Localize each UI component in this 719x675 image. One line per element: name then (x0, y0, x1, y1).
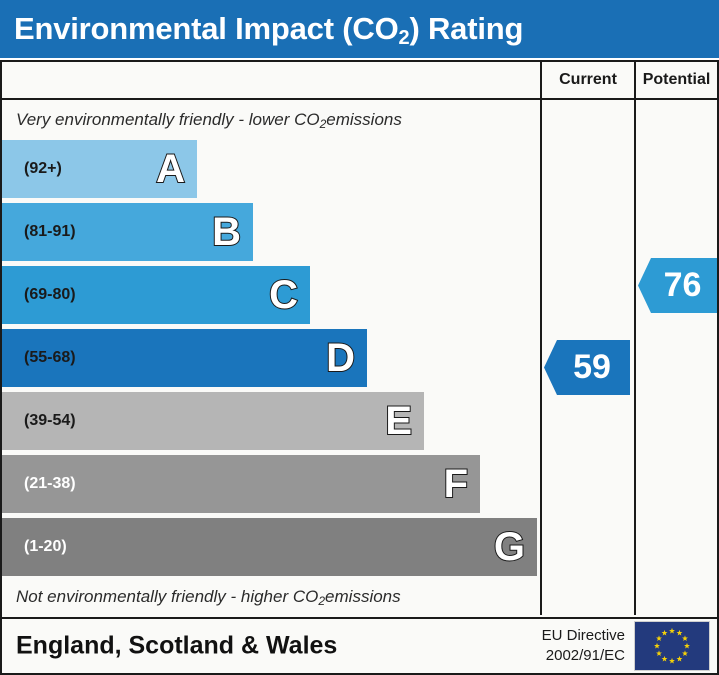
caption-subscript: 2 (318, 594, 325, 608)
eu-flag-stars (635, 622, 709, 670)
band-letter-label: D (326, 338, 355, 378)
eu-star (656, 635, 662, 641)
column-divider-potential (634, 100, 636, 615)
rating-band-d: (55-68)D (2, 329, 367, 387)
band-range-label: (55-68) (2, 349, 76, 367)
column-header-potential: Potential (634, 62, 717, 98)
rating-band-c: (69-80)C (2, 266, 310, 324)
rating-band-e: (39-54)E (2, 392, 424, 450)
directive-line-2: 2002/91/EC (542, 646, 625, 666)
band-range-label: (39-54) (2, 412, 76, 430)
band-letter-label: F (444, 464, 468, 504)
eu-star (677, 630, 683, 636)
eu-star (662, 630, 668, 636)
eu-star (677, 656, 683, 662)
rating-band-g: (1-20)G (2, 518, 537, 576)
column-divider-current (540, 100, 542, 615)
footer-directive-label: EU Directive 2002/91/EC (542, 626, 625, 667)
band-range-label: (21-38) (2, 475, 76, 493)
eu-star (682, 650, 688, 656)
band-letter-label: B (212, 212, 241, 252)
column-header-row: Current Potential (2, 62, 717, 100)
band-letter-label: A (156, 149, 185, 189)
band-range-label: (81-91) (2, 223, 76, 241)
eu-star (669, 628, 675, 634)
title-subscript: 2 (399, 27, 410, 49)
caption-not-friendly: Not environmentally friendly - higher CO… (2, 577, 540, 617)
eu-star (682, 635, 688, 641)
band-letter-label: C (269, 275, 298, 315)
eu-star (654, 643, 660, 649)
rating-band-f: (21-38)F (2, 455, 480, 513)
rating-band-a: (92+)A (2, 140, 197, 198)
chart-footer: England, Scotland & Wales EU Directive 2… (2, 617, 717, 673)
epc-environmental-impact-chart: Environmental Impact (CO2) Rating Curren… (0, 0, 719, 675)
footer-region-label: England, Scotland & Wales (16, 632, 337, 661)
caption-very-friendly: Very environmentally friendly - lower CO… (2, 100, 540, 140)
chart-title-bar: Environmental Impact (CO2) Rating (0, 0, 719, 58)
current-rating-marker: 59 (544, 340, 630, 395)
rating-band-b: (81-91)B (2, 203, 253, 261)
eu-star (669, 658, 675, 664)
directive-line-1: EU Directive (542, 626, 625, 646)
column-header-current: Current (540, 62, 634, 98)
potential-rating-marker: 76 (638, 258, 717, 313)
eu-star (656, 650, 662, 656)
band-letter-label: G (494, 527, 525, 567)
band-range-label: (1-20) (2, 538, 67, 556)
caption-subscript: 2 (320, 117, 327, 131)
band-letter-label: E (385, 401, 412, 441)
eu-star (662, 656, 668, 662)
rating-bands: (92+)A(81-91)B(69-80)C(55-68)D(39-54)E(2… (2, 140, 540, 577)
band-range-label: (92+) (2, 160, 62, 178)
page-title: Environmental Impact (CO2) Rating (0, 11, 523, 47)
band-range-label: (69-80) (2, 286, 76, 304)
chart-body: Current Potential Very environmentally f… (0, 60, 719, 675)
eu-flag-icon (634, 621, 710, 671)
eu-star (684, 643, 690, 649)
